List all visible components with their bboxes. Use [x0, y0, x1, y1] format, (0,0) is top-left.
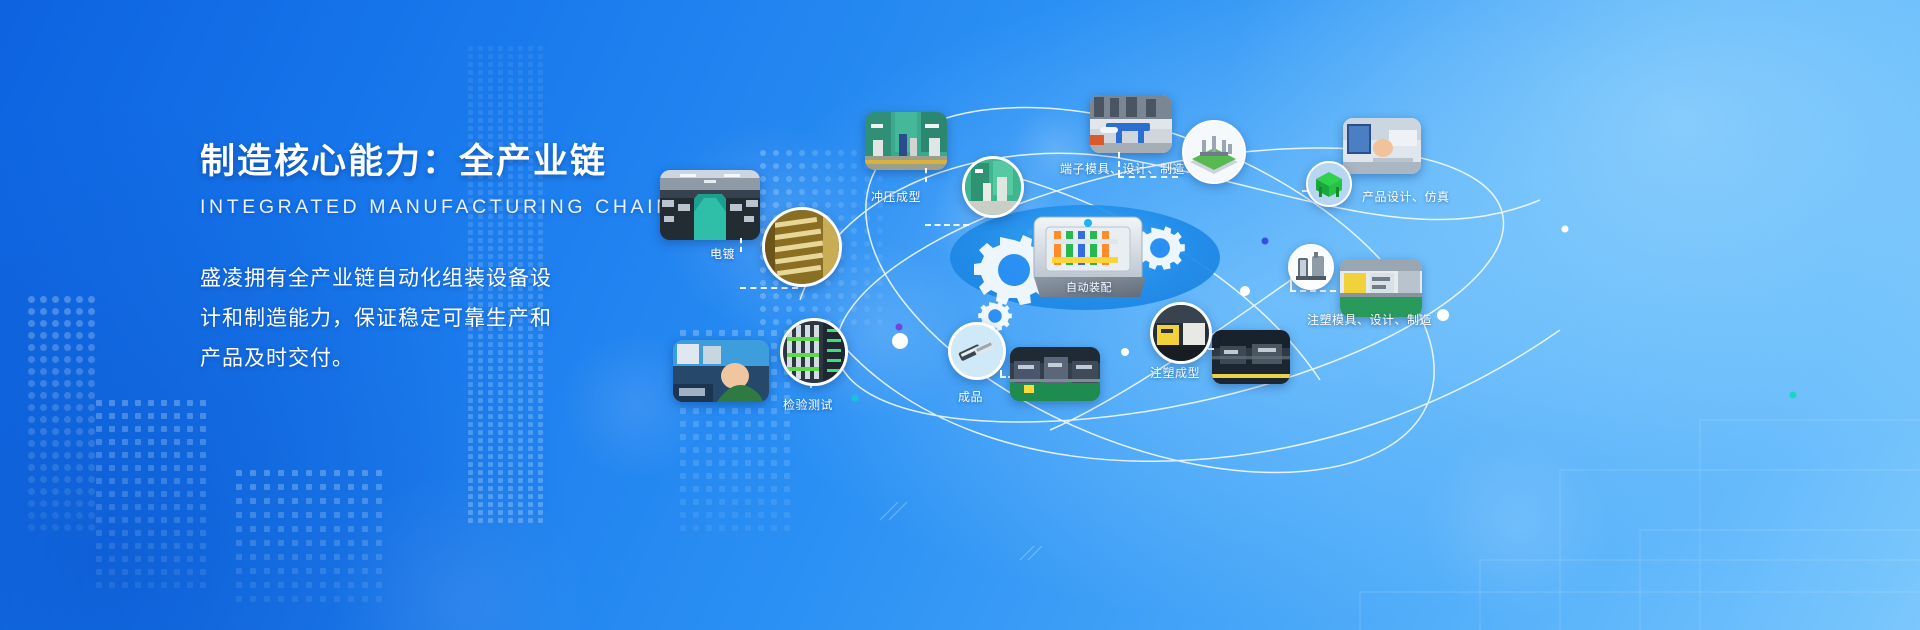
label-terminal-mold: 端子模具、设计、制造: [1060, 160, 1185, 177]
thumbnail-injection-mold[interactable]: [1340, 259, 1422, 317]
icon-inspection-equipment[interactable]: [780, 318, 848, 386]
icon-stamping-machine[interactable]: [962, 156, 1024, 218]
connector-finished-goods-v: [1000, 360, 1002, 376]
connector-electroplating-v: [740, 238, 742, 252]
connector-electroplating-h: [740, 287, 798, 289]
label-inspection: 检验测试: [783, 396, 833, 413]
icon-gold-terminal[interactable]: [762, 207, 842, 287]
label-injection-forming: 注塑成型: [1150, 364, 1200, 381]
icon-finished-goods[interactable]: [948, 322, 1006, 380]
gear-group: [0, 0, 1920, 630]
icon-terminal-mold[interactable]: [1182, 120, 1246, 184]
label-finished-goods: 成品: [958, 388, 983, 405]
connector-stamping-h: [925, 224, 969, 226]
center-machine: 自动装配: [1030, 205, 1155, 305]
connector-stamping-v: [925, 168, 927, 182]
thumbnail-terminal-mold[interactable]: [1090, 95, 1172, 153]
icon-injection-machine[interactable]: [1150, 302, 1212, 364]
thumbnail-electroplating[interactable]: [660, 170, 760, 240]
center-machine-label: 自动装配: [1066, 279, 1112, 295]
label-injection-mold: 注塑模具、设计、制造: [1307, 311, 1432, 328]
label-electroplating: 电镀: [710, 245, 735, 262]
hero-banner: 制造核心能力：全产业链 INTEGRATED MANUFACTURING CHA…: [0, 0, 1920, 630]
label-product-design: 产品设计、仿真: [1362, 188, 1450, 205]
icon-injection-mold[interactable]: [1288, 244, 1334, 290]
connector-injection-mold-h: [1290, 290, 1336, 292]
thumbnail-stamping[interactable]: [865, 112, 947, 170]
thumbnail-inspection[interactable]: [673, 340, 769, 402]
thumbnail-injection-forming[interactable]: [1212, 330, 1290, 384]
label-stamping: 冲压成型: [871, 188, 921, 205]
icon-product-design-cube[interactable]: [1306, 161, 1352, 207]
thumbnail-product-design[interactable]: [1343, 118, 1421, 174]
thumbnail-assembly-line[interactable]: [1010, 347, 1100, 401]
